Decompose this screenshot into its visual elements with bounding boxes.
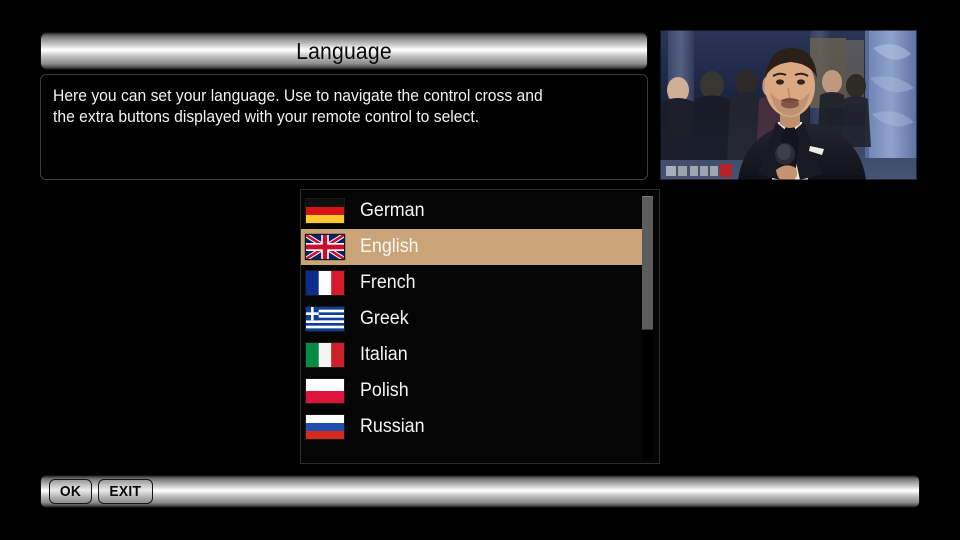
description-text: Here you can set your language. Use to n… bbox=[53, 86, 606, 128]
list-item-italian[interactable]: Italian bbox=[301, 337, 643, 373]
list-item-label: Russian bbox=[360, 416, 425, 438]
list-item-russian[interactable]: Russian bbox=[301, 409, 643, 445]
list-item-polish[interactable]: Polish bbox=[301, 373, 643, 409]
flag-it-icon bbox=[305, 342, 345, 368]
ok-button-label: OK bbox=[60, 483, 81, 500]
list-item-label: Polish bbox=[360, 380, 409, 402]
language-list-panel[interactable]: German English bbox=[300, 189, 660, 464]
page-title: Language bbox=[296, 38, 392, 65]
list-item-greek[interactable]: Greek bbox=[301, 301, 643, 337]
exit-button-label: EXIT bbox=[109, 483, 141, 500]
flag-de-icon bbox=[305, 198, 345, 224]
list-scrollbar-thumb[interactable] bbox=[642, 196, 653, 330]
bottom-button-bar: OK EXIT bbox=[40, 475, 920, 508]
flag-ru-icon bbox=[305, 414, 345, 440]
description-panel: Here you can set your language. Use to n… bbox=[40, 74, 648, 180]
list-item-label: Greek bbox=[360, 308, 409, 330]
tv-settings-screen: Language Here you can set your language.… bbox=[0, 0, 960, 540]
list-item-label: English bbox=[360, 236, 419, 258]
video-frame-icon bbox=[660, 30, 917, 180]
flag-gr-icon bbox=[305, 306, 345, 332]
list-item-label: French bbox=[360, 272, 416, 294]
list-item-label: German bbox=[360, 200, 425, 222]
language-list: German English bbox=[301, 193, 643, 445]
live-tv-preview[interactable] bbox=[660, 30, 917, 180]
ok-button[interactable]: OK bbox=[49, 479, 92, 504]
flag-fr-icon bbox=[305, 270, 345, 296]
list-scrollbar-track[interactable] bbox=[642, 194, 653, 459]
flag-pl-icon bbox=[305, 378, 345, 404]
page-title-bar: Language bbox=[40, 32, 648, 70]
list-item-french[interactable]: French bbox=[301, 265, 643, 301]
list-item-german[interactable]: German bbox=[301, 193, 643, 229]
flag-gb-icon bbox=[305, 234, 345, 260]
exit-button[interactable]: EXIT bbox=[98, 479, 153, 504]
list-item-english[interactable]: English bbox=[301, 229, 642, 265]
list-item-label: Italian bbox=[360, 344, 408, 366]
